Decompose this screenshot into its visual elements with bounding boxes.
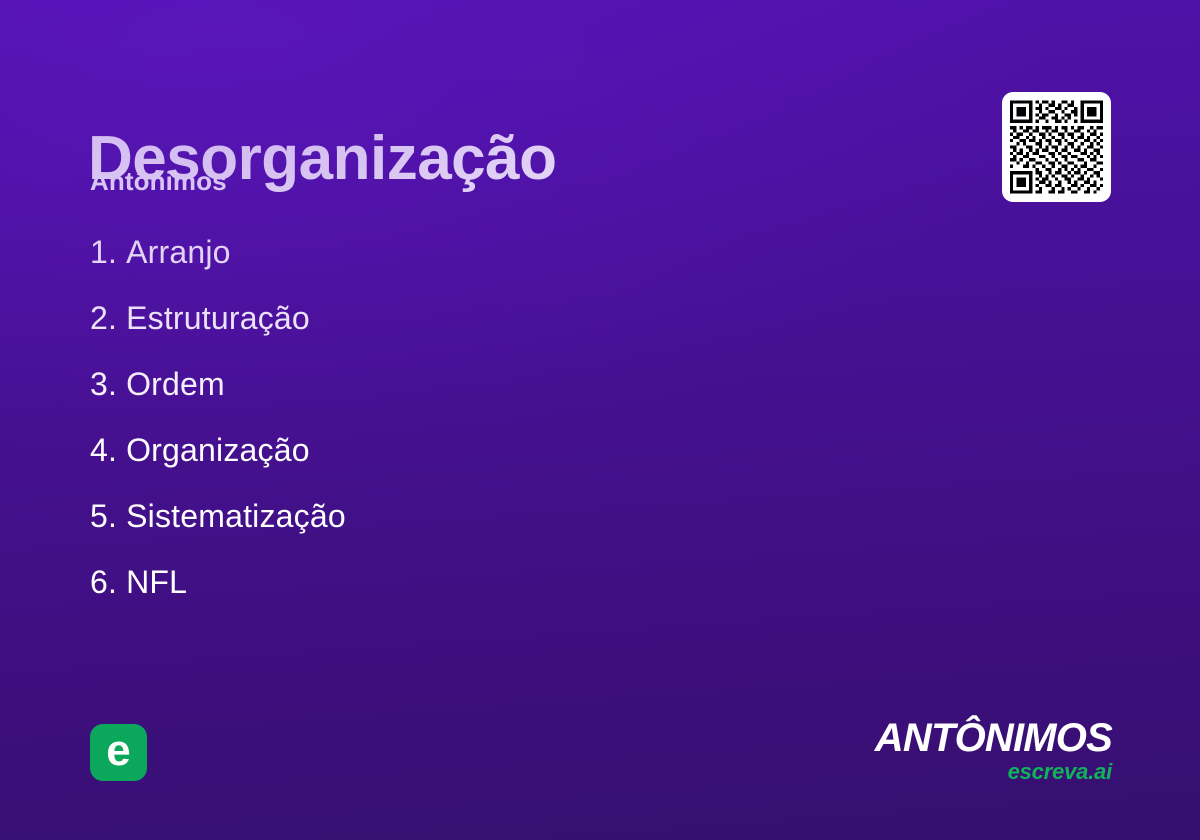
list-item-label: Ordem <box>126 366 225 402</box>
brand-lockup: ANTÔNIMOS escreva.ai <box>875 718 1112 783</box>
list-item: 5.Sistematização <box>90 500 850 538</box>
list-item: 2.Estruturação <box>90 302 850 340</box>
antonyms-list: 1.Arranjo 2.Estruturação 3.Ordem 4.Organ… <box>90 236 850 632</box>
list-item-number: 3. <box>90 366 117 402</box>
list-item-number: 6. <box>90 564 117 600</box>
antonyms-card: Desorganização Antônimos 1.Arranjo 2.Est… <box>0 0 1200 840</box>
escreva-logo-icon[interactable]: e <box>90 724 147 781</box>
page-subtitle: Antônimos <box>90 168 227 194</box>
escreva-logo-letter: e <box>106 729 130 773</box>
list-item-label: Sistematização <box>126 498 346 534</box>
qr-code-icon[interactable] <box>1002 92 1111 202</box>
list-item-number: 4. <box>90 432 117 468</box>
qr-code-svg <box>1010 100 1103 194</box>
list-item-label: Arranjo <box>126 234 231 270</box>
list-item-number: 1. <box>90 234 117 270</box>
list-item: 3.Ordem <box>90 368 850 406</box>
list-item: 4.Organização <box>90 434 850 472</box>
list-item: 1.Arranjo <box>90 236 850 274</box>
brand-domain: escreva.ai <box>875 761 1112 783</box>
list-item-label: Estruturação <box>126 300 310 336</box>
brand-name: ANTÔNIMOS <box>875 718 1112 758</box>
list-item-label: NFL <box>126 564 187 600</box>
list-item-label: Organização <box>126 432 310 468</box>
list-item: 6.NFL <box>90 566 850 604</box>
list-item-number: 2. <box>90 300 117 336</box>
list-item-number: 5. <box>90 498 117 534</box>
